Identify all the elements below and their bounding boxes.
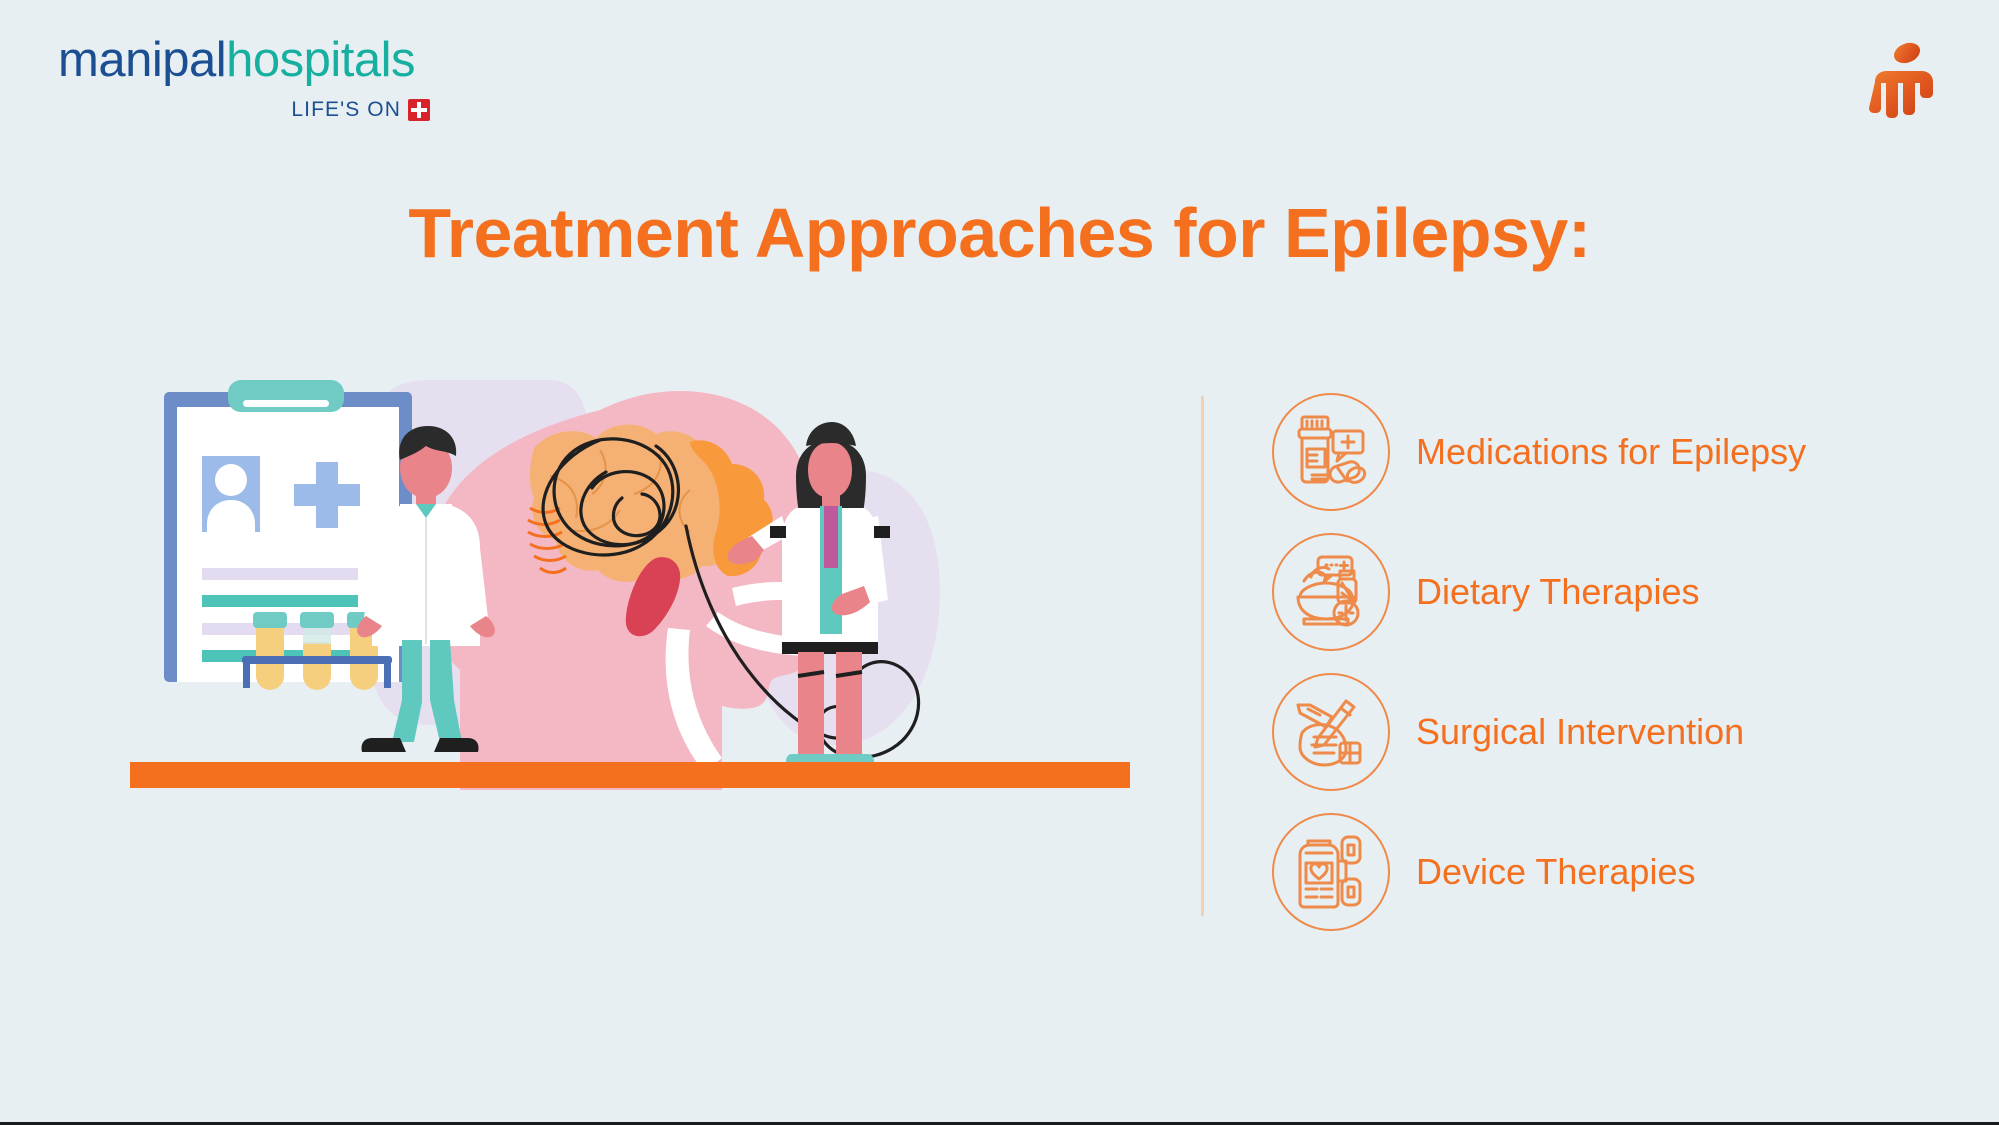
treatment-item-surgical[interactable]: Surgical Intervention [1272, 662, 1972, 802]
test-tube [300, 612, 334, 690]
logo-wordmark-hospitals: hospitals [226, 33, 415, 87]
patient-avatar-icon [202, 456, 260, 532]
vertical-divider [1201, 396, 1204, 916]
treatment-label: Surgical Intervention [1416, 714, 1744, 750]
defibrillator-device-icon [1290, 831, 1372, 913]
logomark-head [1891, 39, 1923, 67]
treatment-item-device[interactable]: Device Therapies [1272, 802, 1972, 942]
logo-tagline: LIFE'S ON [291, 98, 401, 122]
scalpel-surgery-icon [1290, 691, 1372, 773]
test-tube [253, 612, 287, 690]
manipal-hospitals-logo[interactable]: manipalhospitals LIFE'S ON [58, 36, 478, 131]
treatment-list: Medications for Epilepsy [1272, 382, 1972, 942]
doctor-shoe [434, 738, 479, 752]
treatment-label: Device Therapies [1416, 854, 1695, 890]
treatment-icon-ring [1272, 813, 1390, 931]
clipboard-clip [228, 380, 344, 412]
treatment-icon-ring [1272, 673, 1390, 791]
doctor-tie [824, 506, 838, 568]
treatment-label: Dietary Therapies [1416, 574, 1699, 610]
logo-wordmark: manipalhospitals [58, 36, 478, 85]
page-title: Treatment Approaches for Epilepsy: [0, 198, 1999, 268]
medicine-bottle-pills-icon [1290, 411, 1372, 493]
doctor-shoe [361, 738, 406, 752]
orange-floor-bar [130, 762, 1130, 788]
treatment-label: Medications for Epilepsy [1416, 434, 1806, 470]
clipboard-line-1 [202, 568, 358, 580]
doctor-shoe [826, 754, 874, 762]
logomark-body [1869, 71, 1933, 118]
manipal-m-logomark[interactable] [1867, 38, 1941, 118]
food-bowl-nutrition-icon [1290, 551, 1372, 633]
infographic-slide: manipalhospitals LIFE'S ON Treatment App… [0, 0, 1999, 1125]
logo-tagline-row: LIFE'S ON [58, 98, 430, 122]
treatment-icon-ring [1272, 393, 1390, 511]
treatment-item-dietary[interactable]: Dietary Therapies [1272, 522, 1972, 662]
logo-wordmark-manipal: manipal [58, 33, 226, 87]
medical-cross-icon [408, 99, 430, 121]
epilepsy-treatment-illustration [130, 380, 1150, 900]
treatment-icon-ring [1272, 533, 1390, 651]
treatment-item-medications[interactable]: Medications for Epilepsy [1272, 382, 1972, 522]
clipboard-line-2 [202, 595, 358, 607]
